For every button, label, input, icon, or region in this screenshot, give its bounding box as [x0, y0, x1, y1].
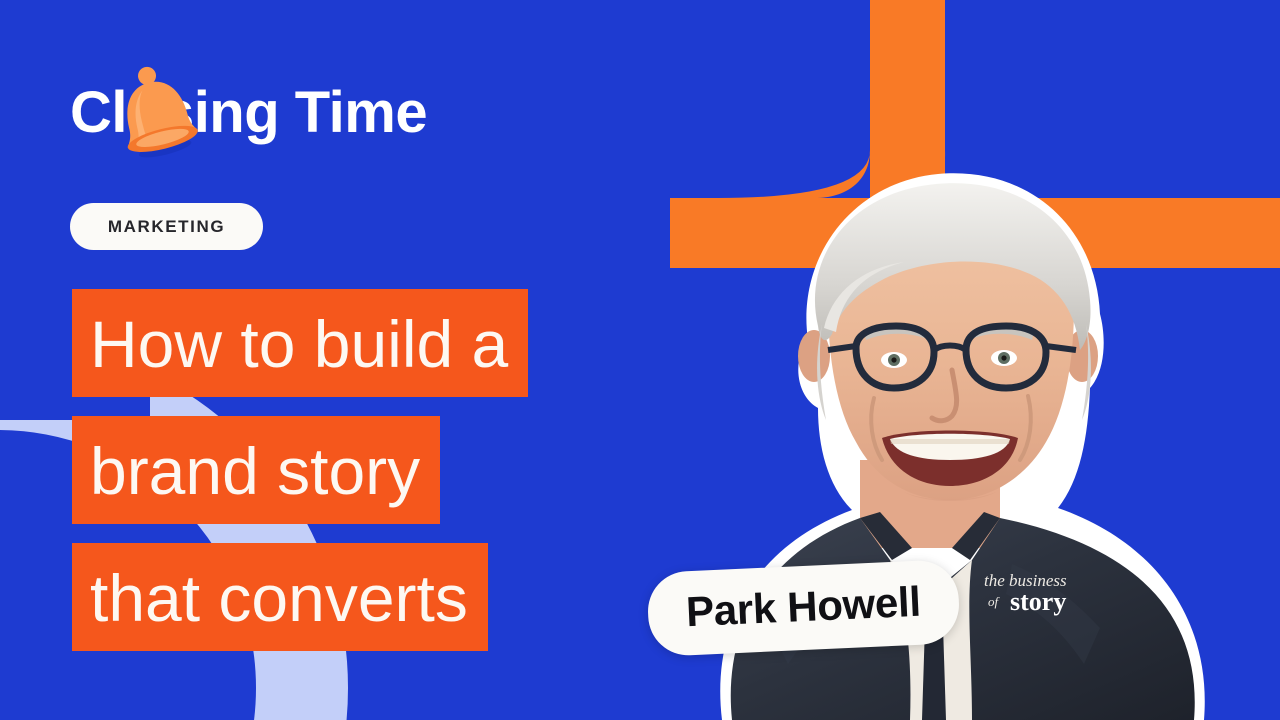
headline: How to build a brand story that converts	[72, 289, 528, 651]
brand-logo[interactable]: Closing Time	[70, 76, 427, 150]
brand-logo-text: Closing Time	[70, 84, 427, 142]
headline-line-3: that converts	[72, 543, 488, 651]
logo-text-after: sing Time	[162, 80, 427, 145]
bell-icon	[112, 62, 198, 162]
category-badge-label: MARKETING	[108, 217, 225, 237]
headline-line-1: How to build a	[72, 289, 528, 397]
headline-line-2: brand story	[72, 416, 440, 524]
video-thumbnail: the business of story	[0, 0, 1280, 720]
speaker-name-label: Park Howell	[685, 578, 922, 636]
category-badge[interactable]: MARKETING	[70, 203, 263, 250]
speaker-name-pill: Park Howell	[646, 559, 960, 657]
svg-text:story: story	[1010, 587, 1066, 616]
